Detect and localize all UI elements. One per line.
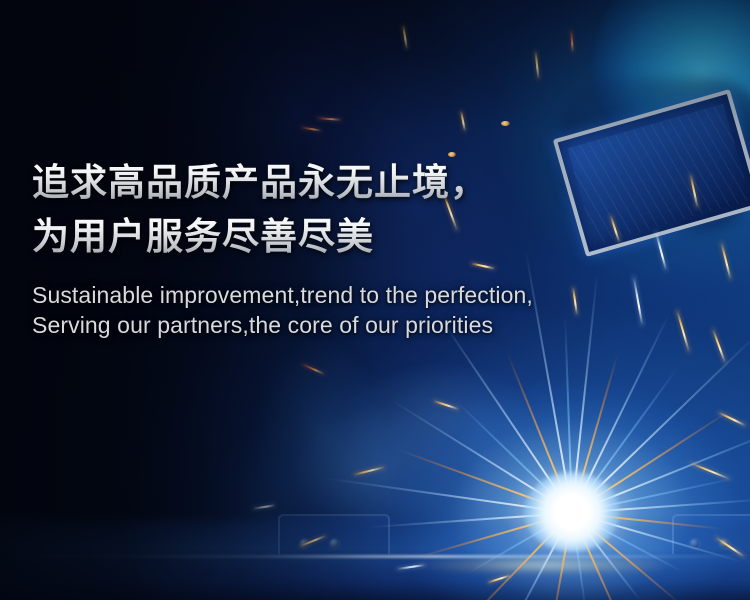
headline-line-2: 为用户服务尽善尽美: [32, 210, 692, 264]
welding-hero-banner: 追求高品质产品永无止境， 为用户服务尽善尽美 Sustainable impro…: [0, 0, 750, 600]
subheadline-line-1: Sustainable improvement,trend to the per…: [32, 280, 692, 310]
banner-copy: 追求高品质产品永无止境， 为用户服务尽善尽美 Sustainable impro…: [32, 156, 692, 340]
subheadline-line-2: Serving our partners,the core of our pri…: [32, 310, 692, 340]
headline-line-1: 追求高品质产品永无止境，: [32, 156, 692, 210]
